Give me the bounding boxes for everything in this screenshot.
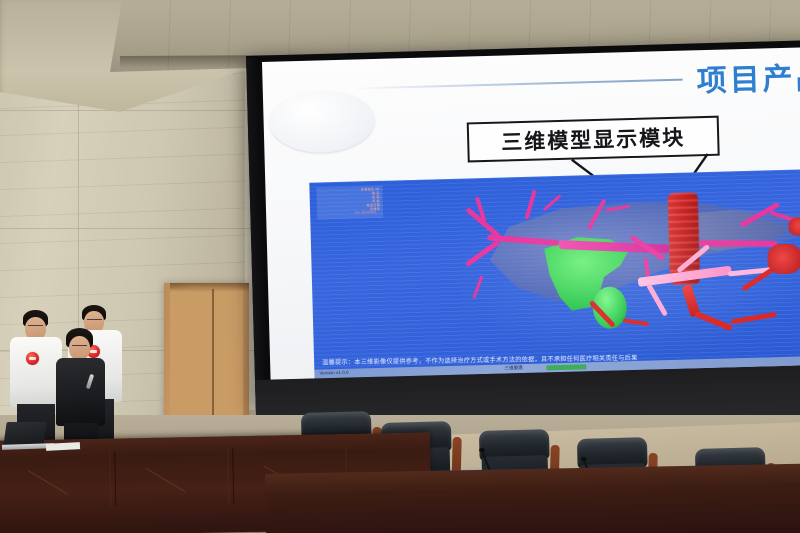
glasses-icon [87,319,102,324]
torso-dark-suit [56,358,105,426]
table-panel-2 [114,448,229,506]
model-viewer-panel[interactable]: 患者信息 3D 姓 名 性 别 年 龄 检查日期 影像号 HA_3DVP.PG [309,169,800,379]
laptop-screen[interactable] [3,422,46,446]
callout-label: 三维模型显示模块 [501,122,686,157]
mic-head [581,457,587,461]
door-top-shadow [170,283,249,292]
slide-title: 项目产品 [696,53,800,101]
presentation-slide: 项目产品 三维模型显示模块 患者信息 3D 姓 名 性 别 年 龄 检查日期 影… [262,47,800,380]
liver-3d-model[interactable] [440,181,800,371]
info-footer-tag: HA_3DVP.PG [320,211,380,217]
glasses-icon [28,325,43,330]
slide-decor-oval [269,89,376,154]
red-badge [26,352,39,365]
slide-title-rule [353,79,683,90]
patient-info-overlay: 患者信息 3D 姓 名 性 别 年 龄 检查日期 影像号 HA_3DVP.PG [316,186,383,220]
status-progress-chip [546,364,586,370]
mic-head [479,448,485,452]
status-mode: 三维重建 [504,365,523,371]
callout-box: 三维模型显示模块 [467,116,720,163]
status-version: Version v1.0.0 [319,370,348,376]
glasses-icon [72,345,87,350]
table-panel-1 [0,451,111,509]
conference-hall-scene: 项目产品 三维模型显示模块 患者信息 3D 姓 名 性 别 年 龄 检查日期 影… [0,0,800,533]
model-specular-glow [440,181,800,371]
conference-table-right [265,463,800,533]
